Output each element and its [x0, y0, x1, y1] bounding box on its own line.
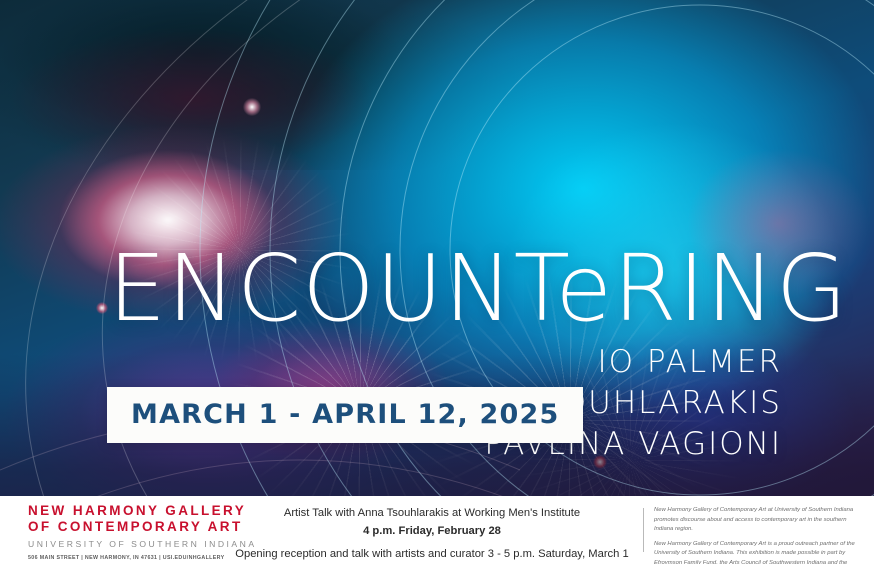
- art-glow-point: [96, 302, 108, 314]
- title-part-1: ENCOUNT: [108, 235, 555, 342]
- university-name: UNIVERSITY OF SOUTHERN INDIANA: [28, 539, 257, 549]
- exhibition-dates: MARCH 1 - APRIL 12, 2025: [131, 399, 559, 430]
- gallery-name-line2: OF CONTEMPORARY ART: [28, 519, 257, 535]
- artist-name: IO PALMER: [411, 342, 783, 383]
- art-glow-point: [243, 98, 261, 116]
- artist-talk-line: Artist Talk with Anna Tsouhlarakis at Wo…: [232, 504, 632, 522]
- fine-print-paragraph: New Harmony Gallery of Contemporary Art …: [654, 540, 866, 564]
- gallery-name-line1: NEW HARMONY GALLERY: [28, 503, 257, 519]
- footer-divider: [643, 508, 644, 552]
- exhibition-dates-banner: MARCH 1 - APRIL 12, 2025: [107, 387, 583, 443]
- gallery-logo: NEW HARMONY GALLERY OF CONTEMPORARY ART …: [28, 503, 257, 561]
- title-part-2: RING: [613, 235, 848, 342]
- event-details: Artist Talk with Anna Tsouhlarakis at Wo…: [232, 504, 632, 563]
- opening-reception-line: Opening reception and talk with artists …: [232, 545, 632, 563]
- artist-talk-time: 4 p.m. Friday, February 28: [232, 522, 632, 540]
- gallery-address: 506 MAIN STREET | NEW HARMONY, IN 47631 …: [28, 555, 257, 561]
- exhibition-poster: ENCOUNTeRING IO PALMER ANNA TSOUHLARAKIS…: [0, 0, 874, 564]
- fine-print-paragraph: New Harmony Gallery of Contemporary Art …: [654, 506, 866, 535]
- fine-print: New Harmony Gallery of Contemporary Art …: [654, 506, 866, 564]
- poster-footer: NEW HARMONY GALLERY OF CONTEMPORARY ART …: [0, 496, 874, 564]
- title-lowercase-e: e: [555, 235, 613, 342]
- poster-title: ENCOUNTeRING: [108, 243, 848, 335]
